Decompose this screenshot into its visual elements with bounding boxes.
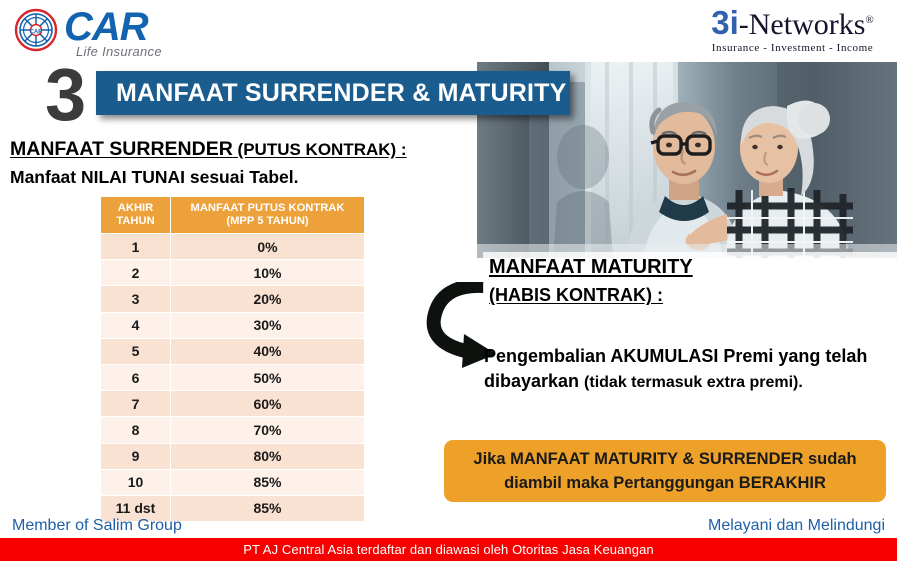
cell-year: 9 (101, 443, 171, 469)
callout-line2: diambil maka Pertanggungan BERAKHIR (494, 474, 836, 492)
maturity-heading-block: MANFAAT MATURITY (HABIS KONTRAK) : (483, 252, 897, 308)
wheel-emblem-icon: CAR (14, 8, 58, 52)
footer-left-text: Member of Salim Group (12, 517, 182, 535)
cell-year: 8 (101, 417, 171, 443)
cell-value: 80% (171, 443, 365, 469)
slide-root: CAR CAR Life Insurance 3i-Networks® Insu… (0, 0, 897, 561)
cell-value: 40% (171, 338, 365, 364)
table-row: 3 20% (101, 286, 365, 312)
header-year-line2: TAHUN (116, 215, 154, 227)
3i-networks-tagline: Insurance - Investment - Income (700, 42, 885, 54)
callout-line1: Jika MANFAAT MATURITY & SURRENDER sudah (463, 450, 866, 468)
cell-year: 1 (101, 234, 171, 260)
svg-text:CAR: CAR (30, 30, 44, 36)
table-header-year: AKHIR TAHUN (101, 197, 171, 234)
surrender-benefit-table: AKHIR TAHUN MANFAAT PUTUS KONTRAK (MPP 5… (100, 196, 365, 522)
table-row: 6 50% (101, 364, 365, 390)
maturity-heading-line1: MANFAAT MATURITY (489, 256, 693, 279)
table-row: 5 40% (101, 338, 365, 364)
car-wordmark: CAR (64, 6, 148, 48)
3i-networks-logo: 3i-Networks® Insurance - Investment - In… (700, 4, 885, 56)
table-row: 9 80% (101, 443, 365, 469)
table-row: 1 0% (101, 234, 365, 260)
callout-text: Jika MANFAAT MATURITY & SURRENDER sudahd… (453, 447, 876, 495)
cell-year: 10 (101, 469, 171, 495)
cell-value: 85% (171, 469, 365, 495)
cell-value: 30% (171, 312, 365, 338)
header-benefit-line2: (MPP 5 TAHUN) (226, 215, 308, 227)
registered-mark-icon: ® (865, 14, 873, 26)
disclaimer-text: PT AJ Central Asia terdaftar dan diawasi… (243, 542, 654, 557)
3i-networks-wordmark: 3i-Networks® (700, 4, 885, 41)
table-row: 2 10% (101, 260, 365, 286)
section-number: 3 (45, 58, 86, 132)
maturity-body-text: Pengembalian AKUMULASI Premi yang telah … (484, 344, 884, 395)
logo-3-glyph: 3 (711, 4, 729, 41)
cell-value: 0% (171, 234, 365, 260)
table-row: 7 60% (101, 391, 365, 417)
surrender-heading-main: MANFAAT SURRENDER (10, 138, 233, 160)
section-title-bar: MANFAAT SURRENDER & MATURITY (96, 71, 570, 115)
logo-i-glyph: i (730, 4, 739, 41)
car-tagline: Life Insurance (76, 44, 162, 59)
table-row: 8 70% (101, 417, 365, 443)
cell-year: 7 (101, 391, 171, 417)
cell-value: 10% (171, 260, 365, 286)
cell-value: 20% (171, 286, 365, 312)
table-body: 1 0% 2 10% 3 20% 4 30% 5 40% 6 50% 7 60% (101, 234, 365, 522)
table-row: 10 85% (101, 469, 365, 495)
header-benefit-line1: MANFAAT PUTUS KONTRAK (191, 202, 345, 214)
maturity-callout-box: Jika MANFAAT MATURITY & SURRENDER sudahd… (444, 440, 886, 502)
table-header-benefit: MANFAAT PUTUS KONTRAK (MPP 5 TAHUN) (171, 197, 365, 234)
cell-year: 5 (101, 338, 171, 364)
header-year-line1: AKHIR (118, 202, 153, 214)
cell-year: 2 (101, 260, 171, 286)
cell-year: 4 (101, 312, 171, 338)
cell-year: 3 (101, 286, 171, 312)
cell-value: 85% (171, 495, 365, 521)
logo-networks-text: -Networks (739, 8, 866, 41)
disclaimer-bar: PT AJ Central Asia terdaftar dan diawasi… (0, 538, 897, 561)
maturity-body-light: (tidak termasuk extra premi). (584, 374, 803, 391)
surrender-heading-paren: (PUTUS KONTRAK) : (238, 140, 407, 159)
table-header-row: AKHIR TAHUN MANFAAT PUTUS KONTRAK (MPP 5… (101, 197, 365, 234)
cell-year: 6 (101, 364, 171, 390)
surrender-subheading: Manfaat NILAI TUNAI sesuai Tabel. (10, 167, 298, 188)
car-logo: CAR CAR Life Insurance (14, 6, 234, 58)
maturity-heading-line2: (HABIS KONTRAK) : (489, 285, 663, 306)
cell-value: 50% (171, 364, 365, 390)
footer-right-text: Melayani dan Melindungi (708, 517, 885, 535)
table-row: 4 30% (101, 312, 365, 338)
cell-value: 60% (171, 391, 365, 417)
cell-value: 70% (171, 417, 365, 443)
page-title: MANFAAT SURRENDER & MATURITY (96, 79, 567, 108)
surrender-heading: MANFAAT SURRENDER (PUTUS KONTRAK) : (10, 138, 407, 161)
